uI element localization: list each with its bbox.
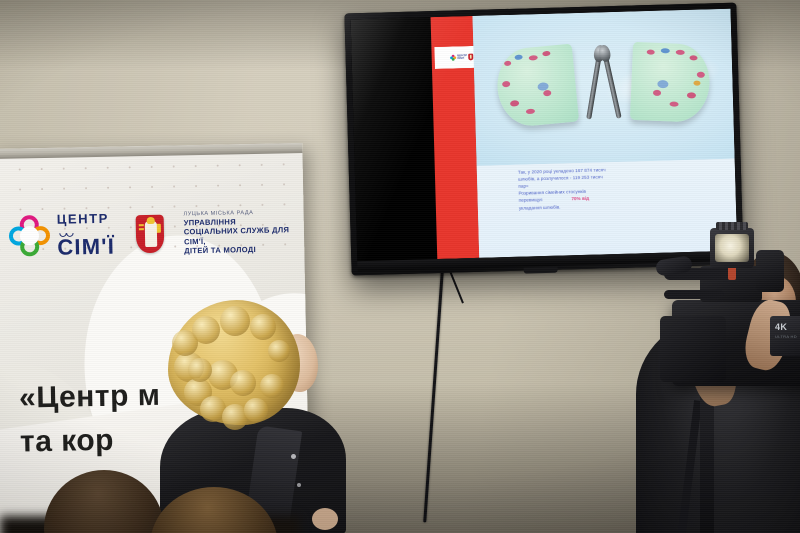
presenter-button-2 [297,483,301,487]
camera-rail-lower [664,290,724,299]
banner-brand-line1: ЦЕНТР [57,211,109,227]
presenter-button [291,454,296,459]
led-mount-arm [728,266,736,280]
flower-icon [450,54,456,60]
tv-screen[interactable]: ЦЕНТР СІМ'Ї [351,9,738,262]
plate-half-left [494,44,579,129]
camera-4k-badge: 4K [775,322,787,332]
flower-logo-icon [10,216,48,257]
slide-content: Так, у 2020 році укладено 167 874 тисяч … [472,9,737,258]
banner-headline-line1: «Центр м [19,374,161,420]
slide-accent-band: ЦЕНТР СІМ'Ї [430,16,479,259]
slide-underlined-2-text: перевищує [519,198,543,204]
banner-brand-text: ЦЕНТР◡◡ СІМ'Ї [57,213,121,258]
screenshot-scene: ЦЕНТР СІМ'Ї [0,0,800,533]
led-fins-icon [716,222,748,230]
presenter-hand [312,508,338,530]
slide-highlight-value: 70% від [571,196,589,201]
slide-photo-broken-plate [472,9,734,166]
camera-shotgun-mic [756,250,784,292]
banner-headline-line2: та кор [20,417,162,463]
presentation-slide: ЦЕНТР СІМ'Ї [351,9,738,262]
camera-lens-hood [660,316,726,382]
slide-text-block: Так, у 2020 році укладено 167 874 тисяч … [476,159,737,258]
tv-mount [524,267,558,274]
banner-org-text: ЛУЦЬКА МІСЬКА РАДА УПРАВЛІННЯ СОЦІАЛЬНИХ… [183,209,304,255]
camera-4k-sub: ULTRA HD [775,334,797,339]
banner-headline: «Центр м та кор [19,374,162,464]
org-line-2: СОЦІАЛЬНИХ СЛУЖБ ДЛЯ СІМ'Ї, [184,225,304,246]
plate-half-right [630,42,711,123]
camera-led-light [710,228,754,268]
camera-4k-badge-panel: 4K ULTRA HD [770,316,800,356]
banner-brand-line2: СІМ'Ї [57,236,120,257]
wall-mounted-television: ЦЕНТР СІМ'Ї [344,3,743,276]
slide-letterbox [351,17,438,261]
lutsk-coat-of-arms-icon [136,215,165,254]
slide-logo-line2: СІМ'Ї [457,57,467,60]
presenter-hair [168,300,300,425]
tripod-column [700,386,714,533]
banner-logo-row: ЦЕНТР◡◡ СІМ'Ї ЛУЦЬКА МІСЬКА РАДА УПРАВЛІ… [10,209,305,259]
spoon-left [586,53,602,119]
led-emitter [715,234,749,262]
